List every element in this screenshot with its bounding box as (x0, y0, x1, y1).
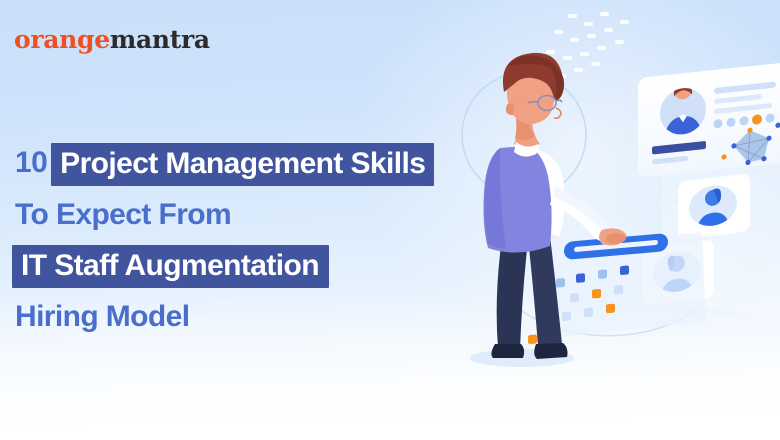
headline-highlight-3: IT Staff Augmentation (12, 245, 329, 288)
blog-banner: orangemantra 10Project Management Skills… (0, 0, 780, 440)
hero-illustration: Person in purple vest and glasses pointi… (450, 0, 780, 440)
profile-card-primary (638, 62, 780, 178)
headline-plain-4: Hiring Model (13, 297, 189, 338)
logo-text-mantra: mantra (110, 25, 210, 54)
headline-highlight-1: Project Management Skills (51, 143, 434, 186)
brand-logo[interactable]: orangemantra (14, 27, 210, 52)
logo-text-orange: orange (14, 25, 110, 54)
profile-card-secondary (678, 173, 750, 240)
headline-plain-2: To Expect From (13, 195, 231, 236)
headline-number: 10 (13, 143, 47, 184)
